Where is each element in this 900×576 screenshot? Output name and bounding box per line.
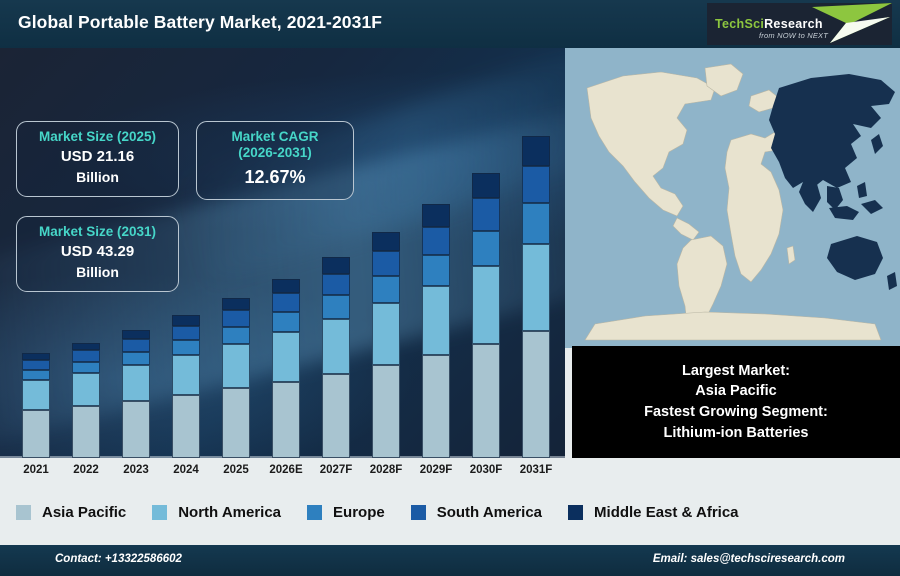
bar-segment-south-america <box>372 251 400 276</box>
techsci-research-logo: TechSciResearch from NOW to NEXT <box>707 3 892 45</box>
bar-2031F <box>522 136 550 458</box>
legend-swatch-north-america <box>152 505 167 520</box>
legend-swatch-south-america <box>411 505 426 520</box>
kpi-unit: Billion <box>27 168 168 187</box>
bar-segment-asia-pacific <box>372 365 400 458</box>
bar-2028F <box>372 232 400 458</box>
x-axis-tick-2024: 2024 <box>161 464 211 476</box>
bar-segment-europe <box>172 340 200 355</box>
legend-item-south-america[interactable]: South America <box>411 504 542 521</box>
x-axis-tick-2026E: 2026E <box>261 464 311 476</box>
bar-segment-north-america <box>372 303 400 365</box>
bar-segment-europe <box>322 295 350 318</box>
bar-segment-north-america <box>72 373 100 405</box>
footer-bar: Contact: +13322586602 Email: sales@techs… <box>0 545 900 576</box>
bar-segment-asia-pacific <box>122 401 150 458</box>
bar-segment-middle-east-africa <box>422 204 450 226</box>
bar-segment-middle-east-africa <box>222 298 250 310</box>
bar-2023 <box>122 330 150 458</box>
kpi-title-period: (2026-2031) <box>207 145 343 161</box>
bar-segment-middle-east-africa <box>122 330 150 339</box>
chart-legend: Asia PacificNorth AmericaEuropeSouth Ame… <box>0 490 900 535</box>
bar-segment-south-america <box>172 326 200 341</box>
x-axis-tick-2029F: 2029F <box>411 464 461 476</box>
bar-2027F <box>322 257 350 458</box>
bar-2030F <box>472 173 500 458</box>
bar-2029F <box>422 204 450 458</box>
callout-line-2: Asia Pacific <box>695 381 776 402</box>
kpi-value: 12.67% <box>207 165 343 190</box>
callout-line-1: Largest Market: <box>682 361 790 382</box>
legend-item-europe[interactable]: Europe <box>307 504 385 521</box>
callout-line-4: Lithium-ion Batteries <box>663 423 808 444</box>
footer-email: Email: sales@techsciresearch.com <box>653 553 845 565</box>
bar-segment-asia-pacific <box>272 382 300 459</box>
bar-segment-europe <box>372 276 400 303</box>
bar-segment-south-america <box>22 360 50 370</box>
bar-segment-asia-pacific <box>472 344 500 458</box>
bar-segment-south-america <box>472 198 500 231</box>
bar-segment-middle-east-africa <box>522 136 550 166</box>
kpi-card-market-cagr: Market CAGR (2026-2031) 12.67% <box>196 121 354 200</box>
bar-segment-europe <box>122 352 150 365</box>
kpi-unit: Billion <box>27 263 168 282</box>
bar-segment-south-america <box>272 293 300 312</box>
x-axis-tick-2027F: 2027F <box>311 464 361 476</box>
bar-segment-europe <box>472 231 500 266</box>
x-axis-labels: 202120222023202420252026E2027F2028F2029F… <box>0 458 565 490</box>
bar-segment-north-america <box>22 380 50 410</box>
page-title: Global Portable Battery Market, 2021-203… <box>18 12 382 33</box>
infographic-root: Global Portable Battery Market, 2021-203… <box>0 0 900 576</box>
bar-segment-middle-east-africa <box>272 279 300 293</box>
world-map <box>565 48 900 348</box>
callout-box: Largest Market: Asia Pacific Fastest Gro… <box>572 346 900 458</box>
bar-segment-europe <box>272 312 300 332</box>
bar-segment-north-america <box>222 344 250 388</box>
bar-segment-middle-east-africa <box>472 173 500 199</box>
logo-text-secondary: Research <box>764 17 823 31</box>
x-axis-tick-2028F: 2028F <box>361 464 411 476</box>
world-map-svg <box>565 48 900 348</box>
legend-label-europe: Europe <box>333 504 385 521</box>
x-axis-tick-2030F: 2030F <box>461 464 511 476</box>
legend-swatch-asia-pacific <box>16 505 31 520</box>
bar-segment-europe <box>522 203 550 244</box>
logo-wordmark: TechSciResearch <box>715 17 823 31</box>
logo-text-primary: TechSci <box>715 17 764 31</box>
bar-2025 <box>222 298 250 458</box>
bar-segment-north-america <box>272 332 300 381</box>
bar-segment-south-america <box>422 227 450 255</box>
legend-label-middle-east-africa: Middle East & Africa <box>594 504 738 521</box>
bar-segment-south-america <box>322 274 350 296</box>
header-bar: Global Portable Battery Market, 2021-203… <box>0 0 900 48</box>
legend-label-south-america: South America <box>437 504 542 521</box>
kpi-value: USD 43.29 <box>27 242 168 263</box>
bar-segment-europe <box>72 362 100 374</box>
bar-segment-europe <box>222 327 250 344</box>
callout-line-3: Fastest Growing Segment: <box>644 402 828 423</box>
kpi-title: Market Size (2025) <box>27 129 168 145</box>
bar-segment-north-america <box>522 244 550 331</box>
bar-segment-europe <box>422 255 450 286</box>
bar-segment-asia-pacific <box>422 355 450 458</box>
chart-panel: Market Size (2025) USD 21.16 Billion Mar… <box>0 48 565 458</box>
bar-2026E <box>272 279 300 458</box>
kpi-title: Market CAGR <box>207 129 343 145</box>
bar-segment-middle-east-africa <box>372 232 400 251</box>
bar-segment-north-america <box>322 319 350 374</box>
logo-tagline: from NOW to NEXT <box>759 31 828 40</box>
legend-label-asia-pacific: Asia Pacific <box>42 504 126 521</box>
bar-segment-south-america <box>222 310 250 327</box>
bar-segment-asia-pacific <box>72 406 100 458</box>
kpi-card-market-size-2031: Market Size (2031) USD 43.29 Billion <box>16 216 179 292</box>
bar-segment-europe <box>22 370 50 380</box>
bar-2022 <box>72 343 100 458</box>
bar-segment-asia-pacific <box>222 388 250 458</box>
kpi-card-market-size-2025: Market Size (2025) USD 21.16 Billion <box>16 121 179 197</box>
x-axis-tick-2031F: 2031F <box>511 464 561 476</box>
legend-swatch-europe <box>307 505 322 520</box>
legend-label-north-america: North America <box>178 504 281 521</box>
x-axis-tick-2022: 2022 <box>61 464 111 476</box>
bar-segment-asia-pacific <box>322 374 350 458</box>
bar-segment-middle-east-africa <box>72 343 100 351</box>
legend-swatch-middle-east-africa <box>568 505 583 520</box>
bar-segment-middle-east-africa <box>172 315 200 325</box>
bar-segment-middle-east-africa <box>22 353 50 360</box>
x-axis-tick-2023: 2023 <box>111 464 161 476</box>
bar-segment-asia-pacific <box>22 410 50 458</box>
bar-segment-asia-pacific <box>172 395 200 458</box>
legend-item-north-america[interactable]: North America <box>152 504 281 521</box>
bar-segment-south-america <box>72 350 100 361</box>
bar-segment-south-america <box>122 339 150 352</box>
legend-item-middle-east-africa[interactable]: Middle East & Africa <box>568 504 738 521</box>
kpi-value: USD 21.16 <box>27 147 168 168</box>
bar-2024 <box>172 315 200 458</box>
footer-contact: Contact: +13322586602 <box>55 553 182 565</box>
bar-segment-north-america <box>422 286 450 355</box>
bar-2021 <box>22 353 50 458</box>
bar-segment-middle-east-africa <box>322 257 350 273</box>
bar-segment-south-america <box>522 166 550 203</box>
x-axis-tick-2021: 2021 <box>11 464 61 476</box>
x-axis-tick-2025: 2025 <box>211 464 261 476</box>
bar-segment-north-america <box>122 365 150 401</box>
bar-segment-north-america <box>472 266 500 344</box>
kpi-title: Market Size (2031) <box>27 224 168 240</box>
bar-segment-asia-pacific <box>522 331 550 458</box>
bar-segment-north-america <box>172 355 200 395</box>
legend-item-asia-pacific[interactable]: Asia Pacific <box>16 504 126 521</box>
